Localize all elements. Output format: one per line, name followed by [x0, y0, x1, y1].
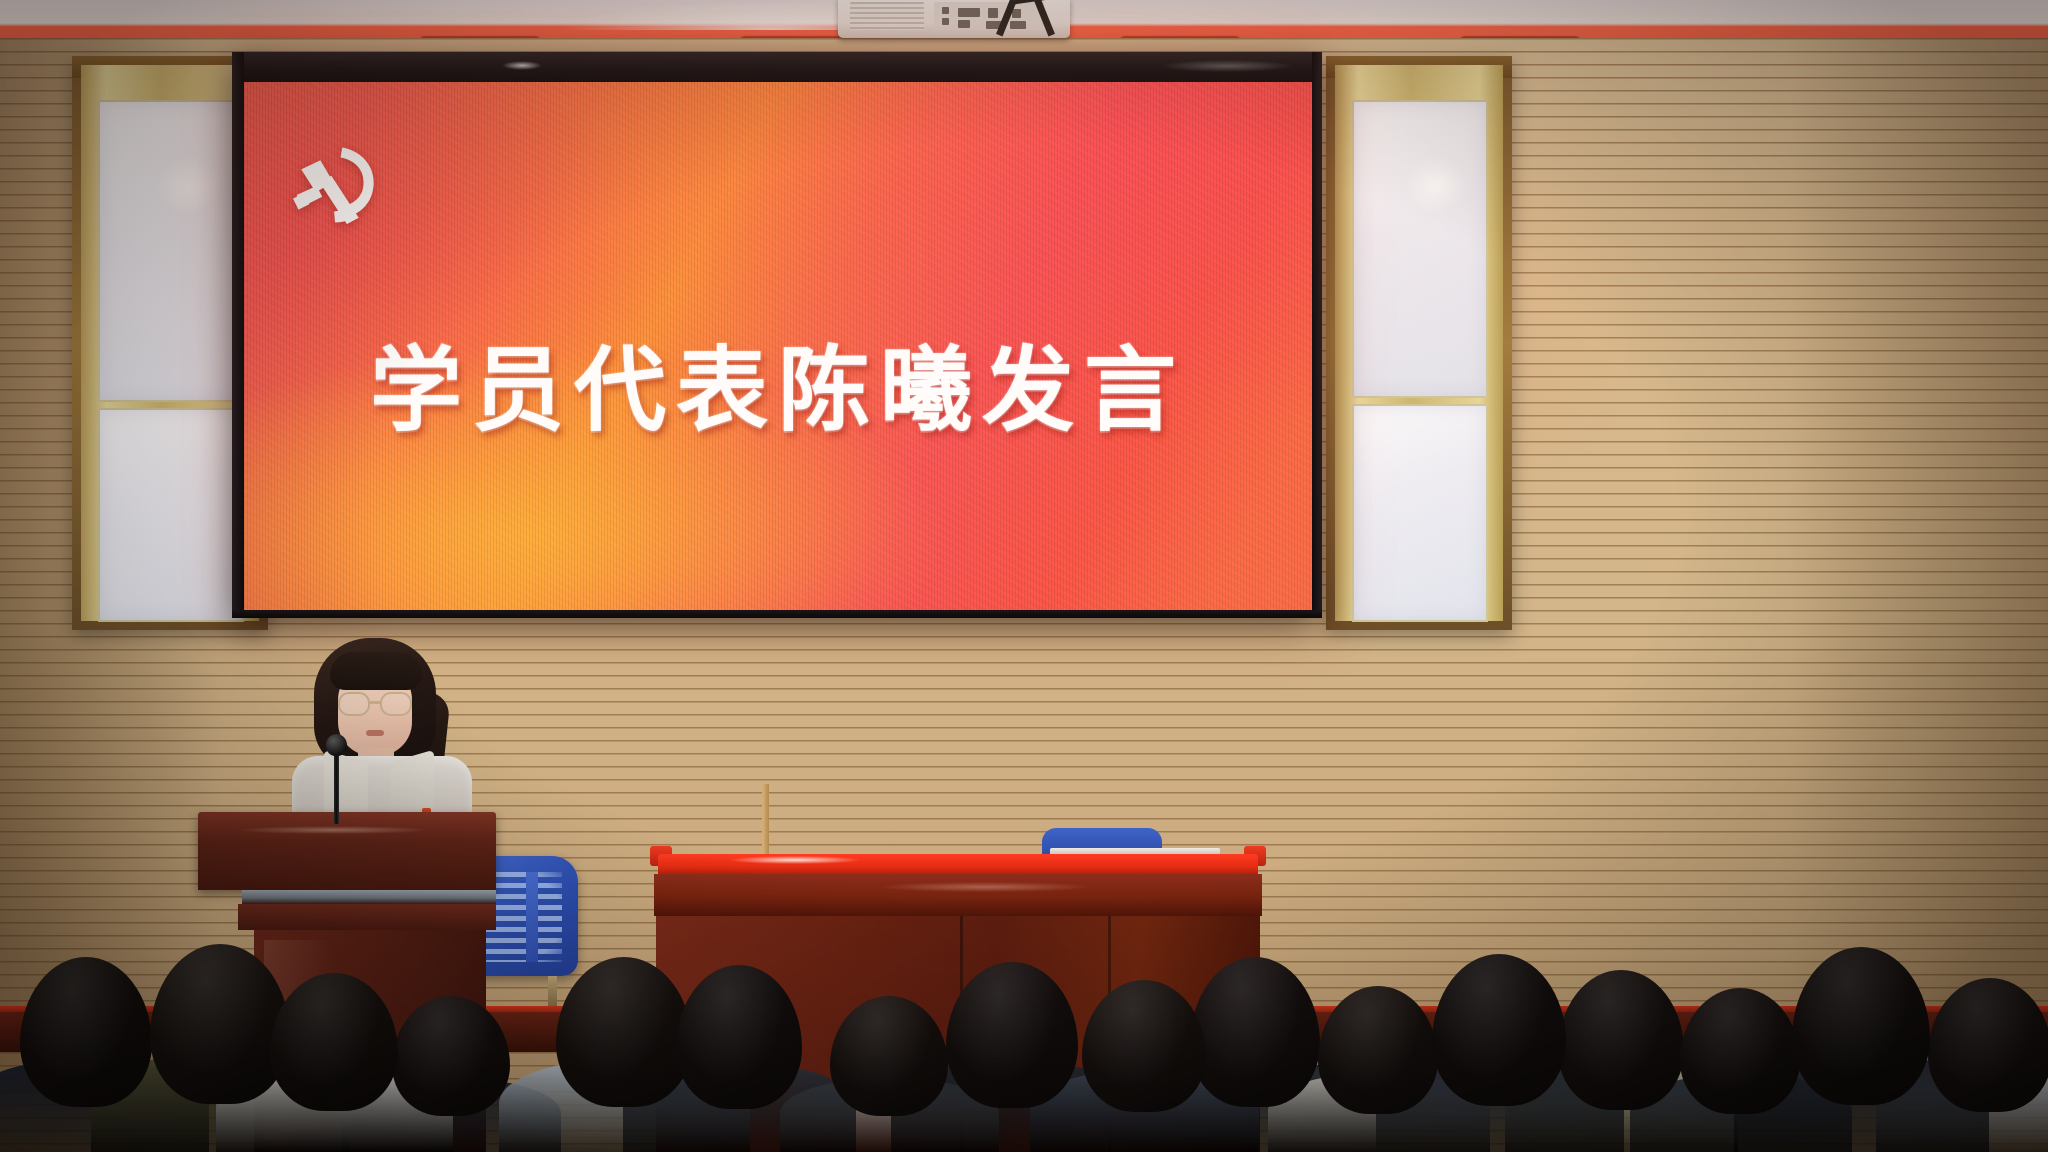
audience-group [0, 852, 2048, 1152]
screen-right-bezel [1312, 52, 1322, 618]
audience-member-head [1680, 988, 1800, 1114]
audience-member-head [20, 957, 152, 1107]
whiteboard-upper [98, 100, 244, 402]
screen-left-bezel [232, 52, 244, 618]
ceiling-projector [838, 0, 1070, 38]
audience-member-head [1432, 954, 1566, 1106]
screen-bottom-bezel [232, 610, 1322, 618]
whiteboard-upper [1352, 100, 1488, 398]
audience-member-head [946, 962, 1078, 1108]
podium-gloss [238, 826, 428, 834]
audience-member-head [392, 996, 510, 1116]
screen-surface: 学员代表陈曦发言 [244, 82, 1312, 610]
podium-microphone-icon [326, 734, 347, 756]
bezel-highlight [502, 61, 542, 70]
whiteboard-glare [1400, 151, 1471, 218]
whiteboard-lower [98, 408, 244, 622]
lecture-hall-scene: 学员代表陈曦发言 [0, 0, 2048, 1152]
audience-member-head [1792, 947, 1930, 1105]
audience-member-head [270, 973, 398, 1111]
audience-member-head [1082, 980, 1206, 1112]
audience-member-head [1928, 978, 2048, 1112]
screen-top-bezel [232, 52, 1322, 82]
table-microphone [762, 784, 769, 854]
right-wall-panel [1326, 56, 1512, 630]
projector-vent-icon [850, 2, 924, 30]
cpc-party-emblem-icon [289, 142, 381, 226]
screen-title-text: 学员代表陈曦发言 [244, 344, 1312, 436]
led-display-screen[interactable]: 学员代表陈曦发言 [232, 52, 1322, 618]
podium-microphone-stem [334, 744, 339, 824]
audience-member-head [830, 996, 948, 1116]
eyeglasses-icon [336, 692, 416, 716]
bezel-highlight [1162, 60, 1292, 72]
whiteboard-glare [150, 151, 226, 219]
speaker-mouth [366, 730, 384, 736]
audience-member-head [1190, 957, 1320, 1107]
audience-member-head [1558, 970, 1684, 1110]
audience-member-head [676, 965, 802, 1109]
speaker-person [290, 630, 470, 840]
whiteboard-lower [1352, 404, 1488, 622]
speaker-fringe [330, 652, 422, 690]
audience-member-head [556, 957, 692, 1107]
projector-mount-bracket [998, 0, 1060, 38]
audience-member-head [150, 944, 290, 1104]
audience-member-head [1318, 986, 1438, 1114]
